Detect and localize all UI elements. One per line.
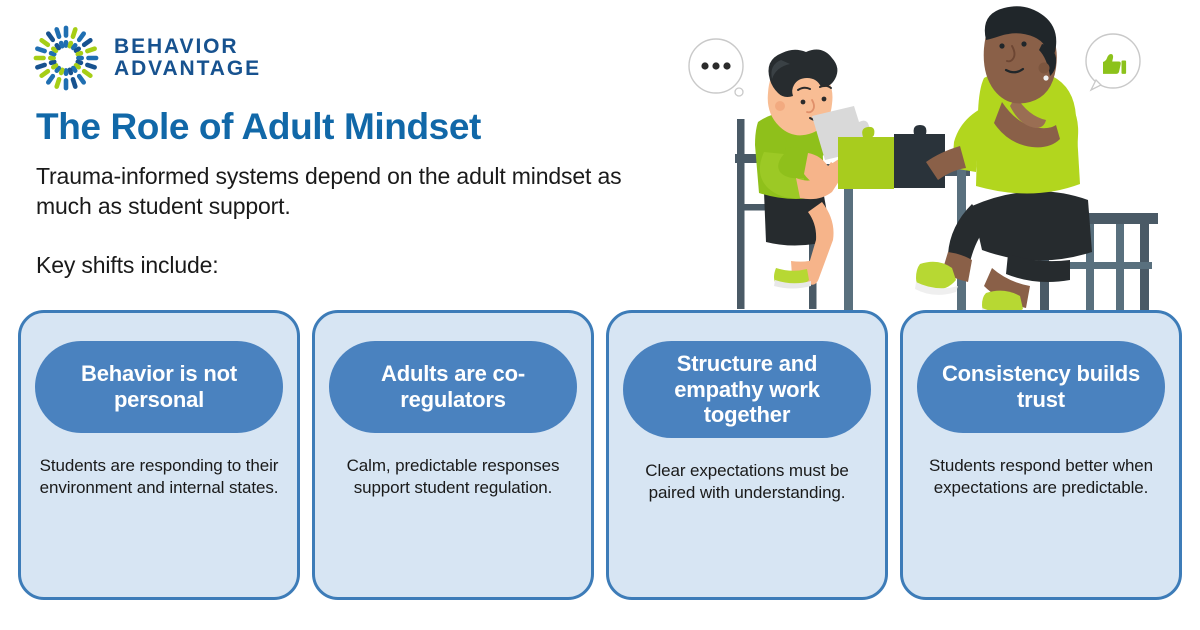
child-figure xyxy=(755,50,852,289)
card-body-text-1: Students are responding to their environ… xyxy=(35,455,283,499)
radial-burst-logo-icon xyxy=(30,22,102,94)
brand-name-line1: BEHAVIOR xyxy=(114,36,261,58)
thumbs-up-speech-bubble-icon xyxy=(1086,34,1140,90)
key-shifts-label: Key shifts include: xyxy=(36,252,636,279)
card-pill-title-4: Consistency builds trust xyxy=(917,341,1165,433)
brand-logo: BEHAVIOR ADVANTAGE xyxy=(30,22,261,94)
card-pill-title-2: Adults are co-regulators xyxy=(329,341,577,433)
page-title: The Role of Adult Mindset xyxy=(36,106,636,148)
headline-block: The Role of Adult Mindset Trauma-informe… xyxy=(36,106,636,279)
card-pill-title-1: Behavior is not personal xyxy=(35,341,283,433)
key-shift-cards: Behavior is not personal Students are re… xyxy=(18,310,1182,600)
adult-and-child-puzzle-illustration xyxy=(672,6,1200,318)
ellipsis-thought-bubble-icon xyxy=(689,39,743,96)
key-shift-card-4[interactable]: Consistency builds trust Students respon… xyxy=(900,310,1182,600)
brand-wordmark: BEHAVIOR ADVANTAGE xyxy=(114,36,261,81)
key-shift-card-3[interactable]: Structure and empathy work together Clea… xyxy=(606,310,888,600)
adult-figure xyxy=(915,6,1092,318)
card-pill-title-3: Structure and empathy work together xyxy=(623,341,871,438)
card-body-text-3: Clear expectations must be paired with u… xyxy=(623,460,871,504)
card-body-text-2: Calm, predictable responses support stud… xyxy=(329,455,577,499)
subtitle: Trauma-informed systems depend on the ad… xyxy=(36,162,636,222)
key-shift-card-1[interactable]: Behavior is not personal Students are re… xyxy=(18,310,300,600)
brand-name-line2: ADVANTAGE xyxy=(114,58,261,80)
card-body-text-4: Students respond better when expectation… xyxy=(917,455,1165,499)
key-shift-card-2[interactable]: Adults are co-regulators Calm, predictab… xyxy=(312,310,594,600)
